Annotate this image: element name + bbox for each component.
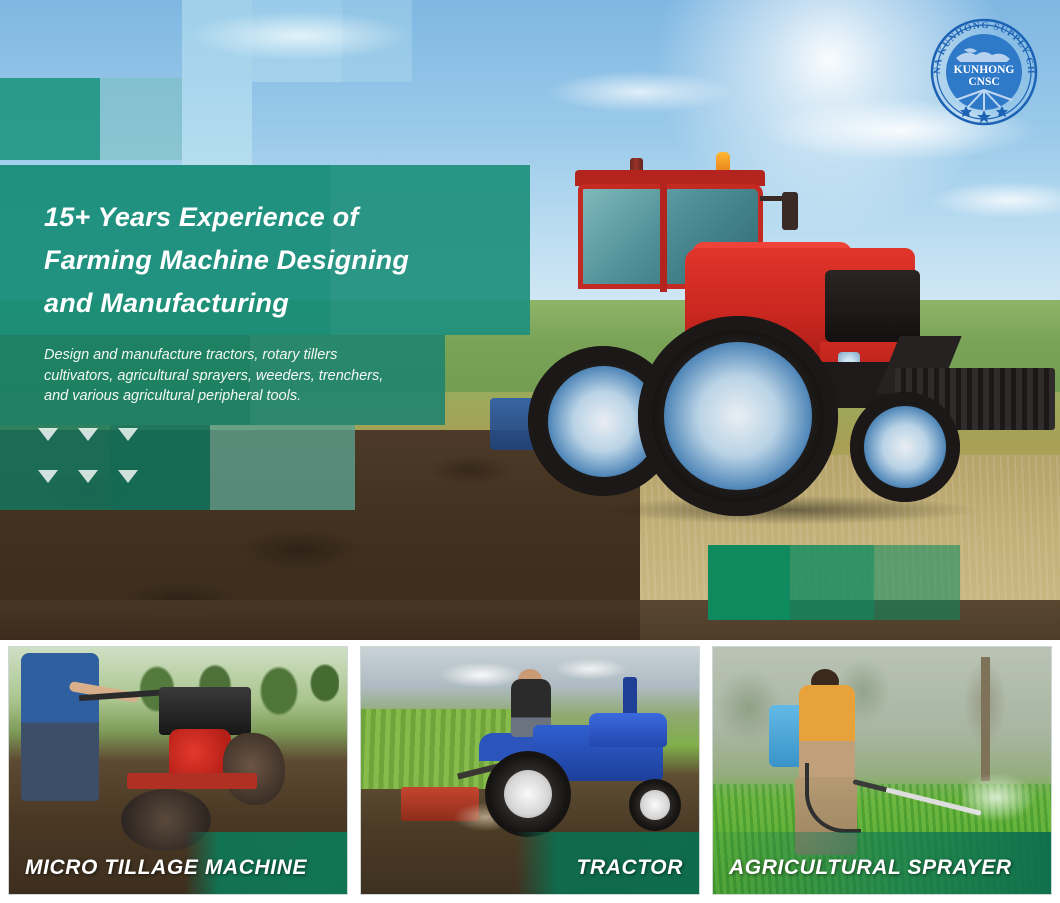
product-card-row: MICRO TILLAGE MACHINE TRACTOR [0, 646, 1060, 903]
card2-rear-wheel [485, 751, 571, 837]
triangle-decoration-grid [38, 428, 148, 500]
headline-line-1: 15+ Years Experience of [44, 196, 524, 239]
green-block-3 [874, 545, 960, 620]
subtext-line-1: Design and manufacture tractors, rotary … [44, 345, 454, 366]
card1-label: MICRO TILLAGE MACHINE [9, 846, 347, 894]
triangle-down-icon [78, 428, 98, 441]
headline-line-2: Farming Machine Designing [44, 239, 524, 282]
card1-engine-block [159, 687, 251, 735]
triangle-down-icon [118, 428, 138, 441]
logo-seal-icon: KUNHONG CNSC CHINA KUNHONG SUPPLY CHAIN [926, 14, 1042, 130]
side-mirror-icon [782, 192, 798, 230]
card2-label: TRACTOR [361, 846, 699, 894]
product-card-agricultural-sprayer[interactable]: AGRICULTURAL SPRAYER [712, 646, 1052, 895]
red-tractor-image [520, 130, 1060, 530]
decor-tile-d [252, 0, 342, 82]
lower-left-panel-fade [210, 425, 355, 510]
promo-banner: 15+ Years Experience of Farming Machine … [0, 0, 1060, 903]
card2-front-wheel [629, 779, 681, 831]
card1-deck [127, 773, 257, 789]
card3-tree-trunk [981, 657, 990, 781]
page-title: 15+ Years Experience of Farming Machine … [44, 196, 524, 325]
triangle-down-icon [38, 428, 58, 441]
hero-subtext: Design and manufacture tractors, rotary … [44, 345, 454, 407]
svg-text:CNSC: CNSC [968, 76, 999, 88]
card1-rotor [223, 733, 285, 805]
card3-label: AGRICULTURAL SPRAYER [713, 846, 1051, 894]
subtext-line-2: cultivators, agricultural sprayers, weed… [44, 366, 454, 387]
card3-treeline [713, 647, 1051, 787]
radiator-grill [825, 270, 920, 342]
card1-operator [21, 653, 99, 801]
product-card-tractor[interactable]: TRACTOR [360, 646, 700, 895]
decor-tile-b [100, 78, 182, 160]
headline-line-3: and Manufacturing [44, 282, 524, 325]
product-card-micro-tillage-machine[interactable]: MICRO TILLAGE MACHINE [8, 646, 348, 895]
decor-tile-c [182, 0, 252, 165]
company-logo: KUNHONG CNSC CHINA KUNHONG SUPPLY CHAIN [926, 14, 1042, 130]
card2-tractor-hood [589, 713, 667, 747]
triangle-down-icon [78, 470, 98, 483]
steer-wheel [850, 392, 960, 502]
green-block-1 [708, 545, 790, 620]
cab-post [660, 184, 667, 292]
beacon-light-icon [716, 152, 730, 172]
green-block-2 [790, 545, 874, 620]
decor-tile-e [342, 0, 412, 82]
triangle-down-icon [118, 470, 138, 483]
triangle-down-icon [38, 470, 58, 483]
logo-center-line1: KUNHONG [954, 64, 1015, 76]
hero-section: 15+ Years Experience of Farming Machine … [0, 0, 1060, 640]
decor-tile-a [0, 78, 100, 160]
subtext-line-3: and various agricultural peripheral tool… [44, 386, 454, 407]
rear-wheel [638, 316, 838, 516]
